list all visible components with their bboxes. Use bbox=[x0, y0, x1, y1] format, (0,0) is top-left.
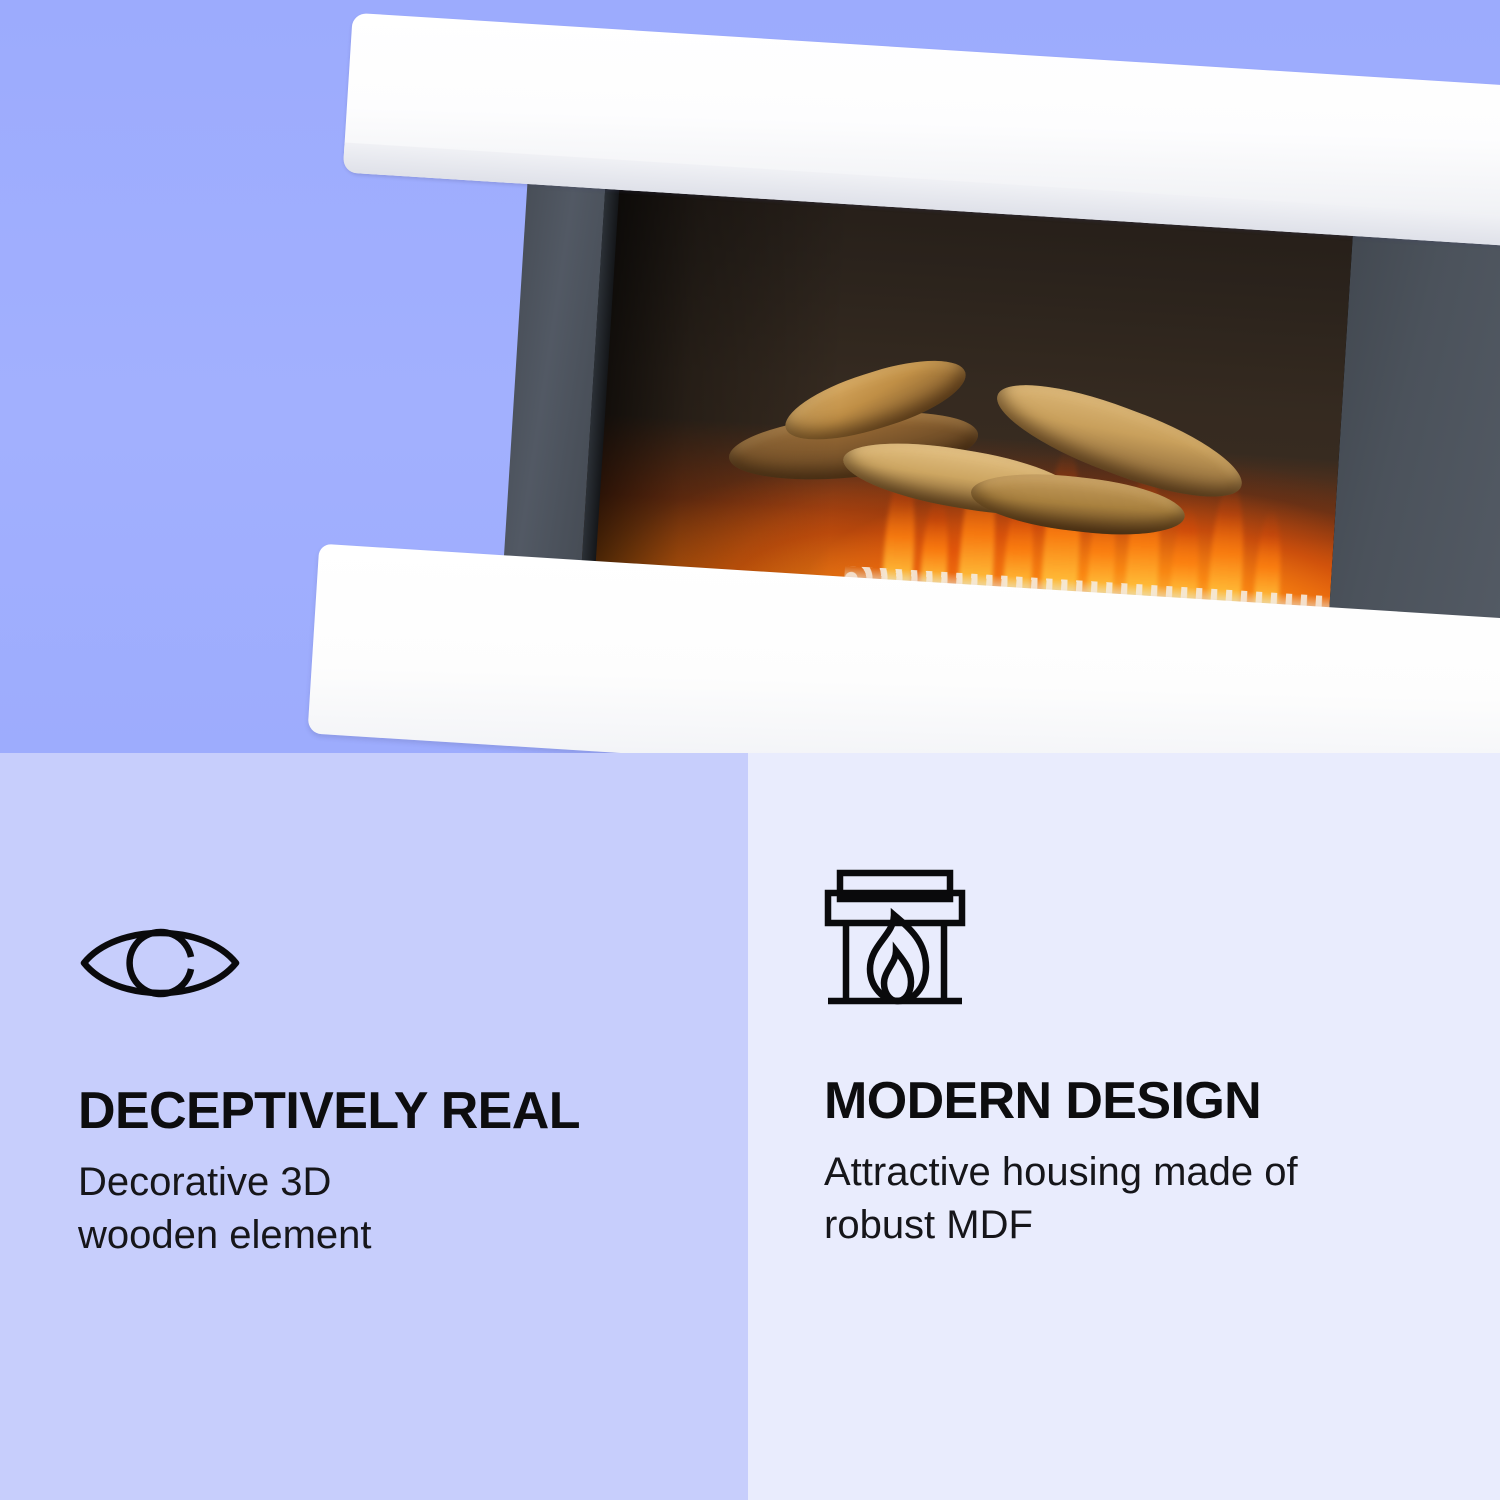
feature-description-line-1: Attractive housing made of bbox=[824, 1146, 1460, 1199]
eye-icon-wrapper bbox=[78, 881, 708, 1009]
fireplace-icon-wrapper bbox=[824, 861, 1460, 1009]
feature-description: Attractive housing made of robust MDF bbox=[824, 1146, 1460, 1252]
feature-panel-deceptively-real: DECEPTIVELY REAL Decorative 3D wooden el… bbox=[0, 753, 748, 1500]
feature-description-line-2: robust MDF bbox=[824, 1199, 1460, 1252]
feature-title: DECEPTIVELY REAL bbox=[78, 1085, 708, 1138]
eye-icon bbox=[78, 917, 242, 1009]
feature-description: Decorative 3D wooden element bbox=[78, 1156, 708, 1262]
feature-description-line-1: Decorative 3D bbox=[78, 1156, 708, 1209]
feature-panel-modern-design: MODERN DESIGN Attractive housing made of… bbox=[748, 753, 1500, 1500]
feature-panels: DECEPTIVELY REAL Decorative 3D wooden el… bbox=[0, 753, 1500, 1500]
feature-description-line-2: wooden element bbox=[78, 1209, 708, 1262]
fireplace-icon bbox=[824, 861, 972, 1009]
electric-fireplace-product bbox=[304, 0, 1500, 753]
hero-product-image bbox=[0, 0, 1500, 753]
left-vertical-post bbox=[504, 122, 610, 568]
feature-page: DECEPTIVELY REAL Decorative 3D wooden el… bbox=[0, 0, 1500, 1500]
feature-title: MODERN DESIGN bbox=[824, 1075, 1460, 1128]
